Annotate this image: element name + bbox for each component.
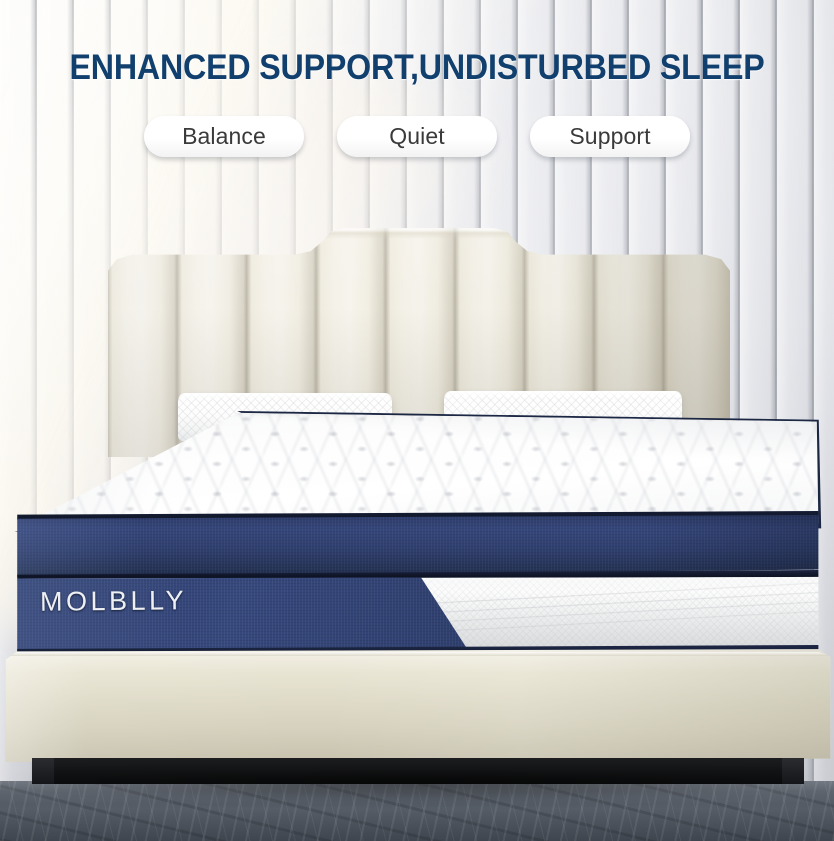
- mattress: [0, 405, 834, 670]
- feature-pill-quiet[interactable]: Quiet: [337, 116, 497, 157]
- product-banner: MOLBLLY ENHANCED SUPPORT,UNDISTURBED SLE…: [0, 0, 834, 841]
- brand-logo: MOLBLLY: [40, 585, 187, 618]
- feature-pill-balance[interactable]: Balance: [144, 116, 304, 157]
- bed-base-top-seam: [4, 652, 832, 656]
- page-title: ENHANCED SUPPORT,UNDISTURBED SLEEP: [33, 48, 800, 88]
- mattress-quilted-top: [14, 413, 820, 528]
- feature-pill-balance-label: Balance: [182, 123, 266, 150]
- feature-pill-group: Balance Quiet Support: [0, 116, 834, 157]
- mattress-navy-band: [14, 515, 820, 577]
- mattress-band-highlight: [14, 515, 820, 577]
- bed-floor-shadow: [10, 776, 824, 802]
- feature-pill-quiet-label: Quiet: [389, 123, 444, 150]
- bed-base: [4, 648, 832, 762]
- pillow-left-highlight: [178, 393, 392, 400]
- mattress-top-shading: [14, 413, 820, 528]
- pillow-right-highlight: [444, 391, 682, 398]
- feature-pill-support[interactable]: Support: [530, 116, 690, 157]
- feature-pill-support-label: Support: [569, 123, 650, 150]
- bed-base-sheen: [4, 648, 832, 762]
